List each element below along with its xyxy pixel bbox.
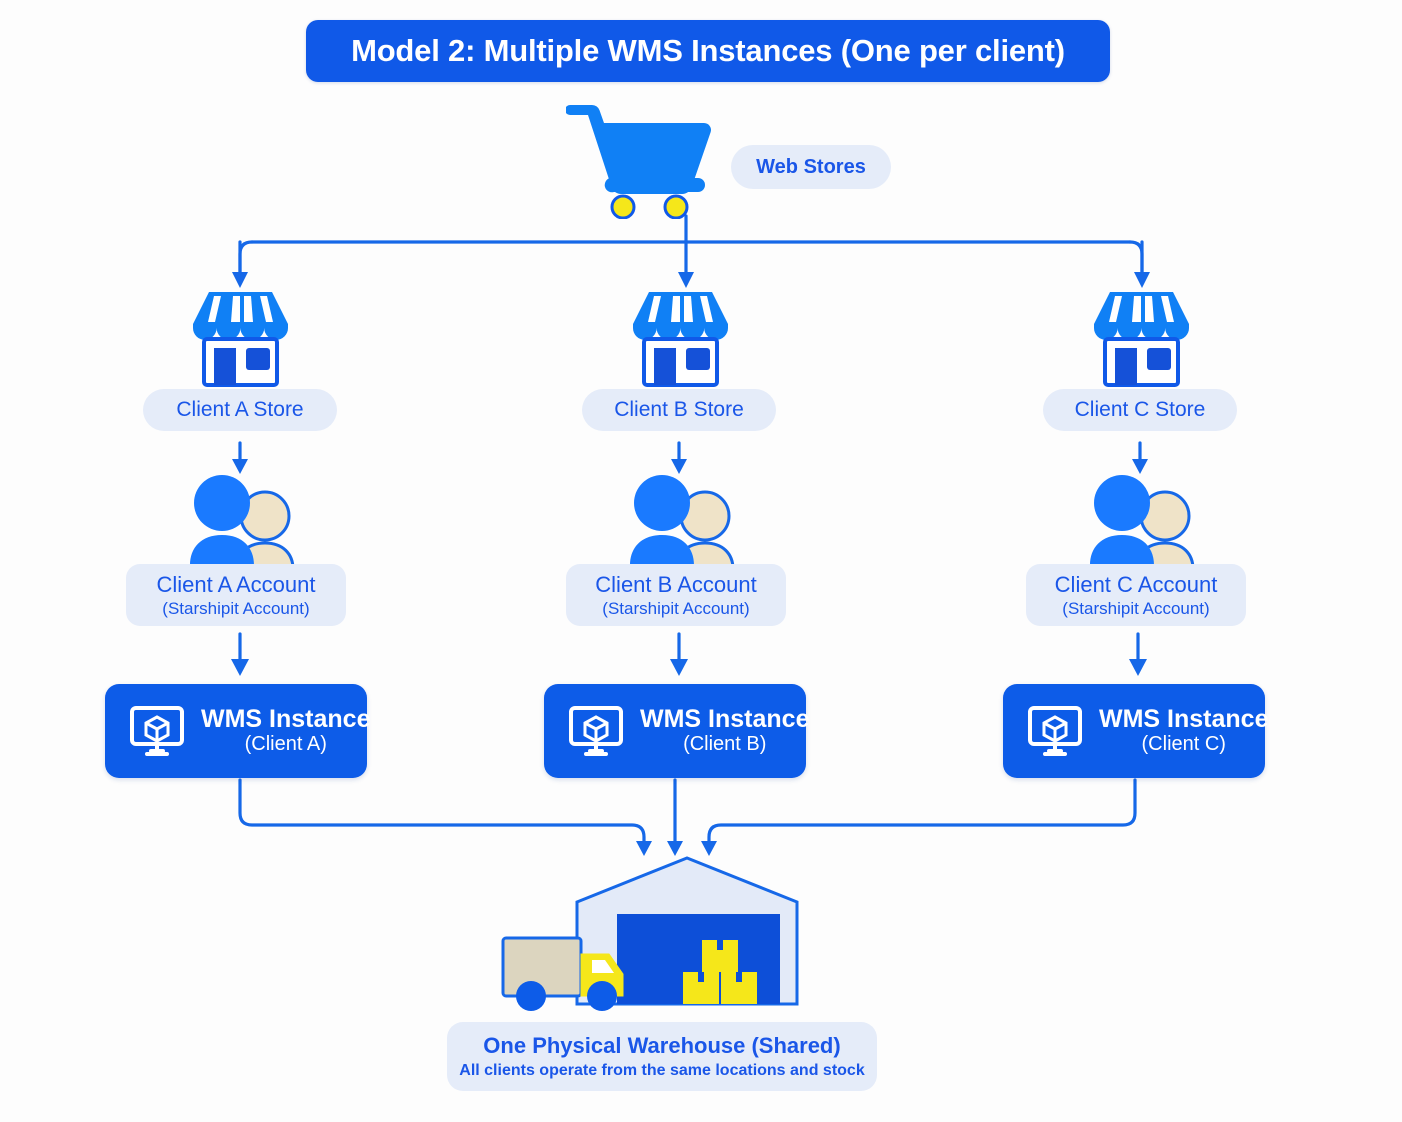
wms-title: WMS Instance <box>201 706 370 732</box>
store-label-client-a: Client A Store <box>143 389 337 431</box>
monitor-cube-icon <box>568 703 624 759</box>
web-stores-label: Web Stores <box>731 145 891 189</box>
store-label-text: Client A Store <box>176 398 303 422</box>
account-label-subtitle: (Starshipit Account) <box>1062 599 1209 619</box>
arrowheads-to-stores <box>232 272 1150 288</box>
connector-wms-c-to-warehouse <box>709 780 1135 845</box>
storefront-icon <box>189 290 292 390</box>
web-stores-label-text: Web Stores <box>756 156 866 179</box>
warehouse-caption-title: One Physical Warehouse (Shared) <box>483 1033 840 1059</box>
store-label-text: Client C Store <box>1075 398 1206 422</box>
account-label-title: Client A Account <box>157 572 316 598</box>
monitor-cube-icon <box>1027 703 1083 759</box>
store-label-text: Client B Store <box>614 398 744 422</box>
storefront-icon <box>629 290 732 390</box>
wms-title: WMS Instance <box>1099 706 1268 732</box>
account-label-client-c: Client C Account (Starshipit Account) <box>1026 564 1246 626</box>
monitor-cube-icon <box>129 703 185 759</box>
connector-corner-right <box>1130 242 1142 272</box>
store-label-client-c: Client C Store <box>1043 389 1237 431</box>
account-label-client-a: Client A Account (Starshipit Account) <box>126 564 346 626</box>
warehouse-caption-subtitle: All clients operate from the same locati… <box>459 1062 864 1080</box>
connector-wms-a-to-warehouse <box>240 780 644 845</box>
storefront-icon <box>1090 290 1193 390</box>
account-label-title: Client B Account <box>595 572 756 598</box>
warehouse-truck-icon <box>497 852 807 1012</box>
wms-instance-box-client-b: WMS Instance (Client B) <box>544 684 806 778</box>
account-label-title: Client C Account <box>1055 572 1218 598</box>
wms-subtitle: (Client A) <box>201 732 370 756</box>
wms-subtitle: (Client C) <box>1099 732 1268 756</box>
account-label-subtitle: (Starshipit Account) <box>602 599 749 619</box>
store-label-client-b: Client B Store <box>582 389 776 431</box>
wms-title: WMS Instance <box>640 706 809 732</box>
arrowheads-account-to-wms <box>231 659 1147 676</box>
warehouse-caption: One Physical Warehouse (Shared) All clie… <box>447 1022 877 1091</box>
wms-instance-box-client-c: WMS Instance (Client C) <box>1003 684 1265 778</box>
connector-corner-left <box>240 242 252 272</box>
account-label-client-b: Client B Account (Starshipit Account) <box>566 564 786 626</box>
account-label-subtitle: (Starshipit Account) <box>162 599 309 619</box>
wms-subtitle: (Client B) <box>640 732 809 756</box>
diagram-canvas: Model 2: Multiple WMS Instances (One per… <box>0 0 1402 1122</box>
wms-instance-box-client-a: WMS Instance (Client A) <box>105 684 367 778</box>
shopping-cart-icon <box>566 97 716 219</box>
